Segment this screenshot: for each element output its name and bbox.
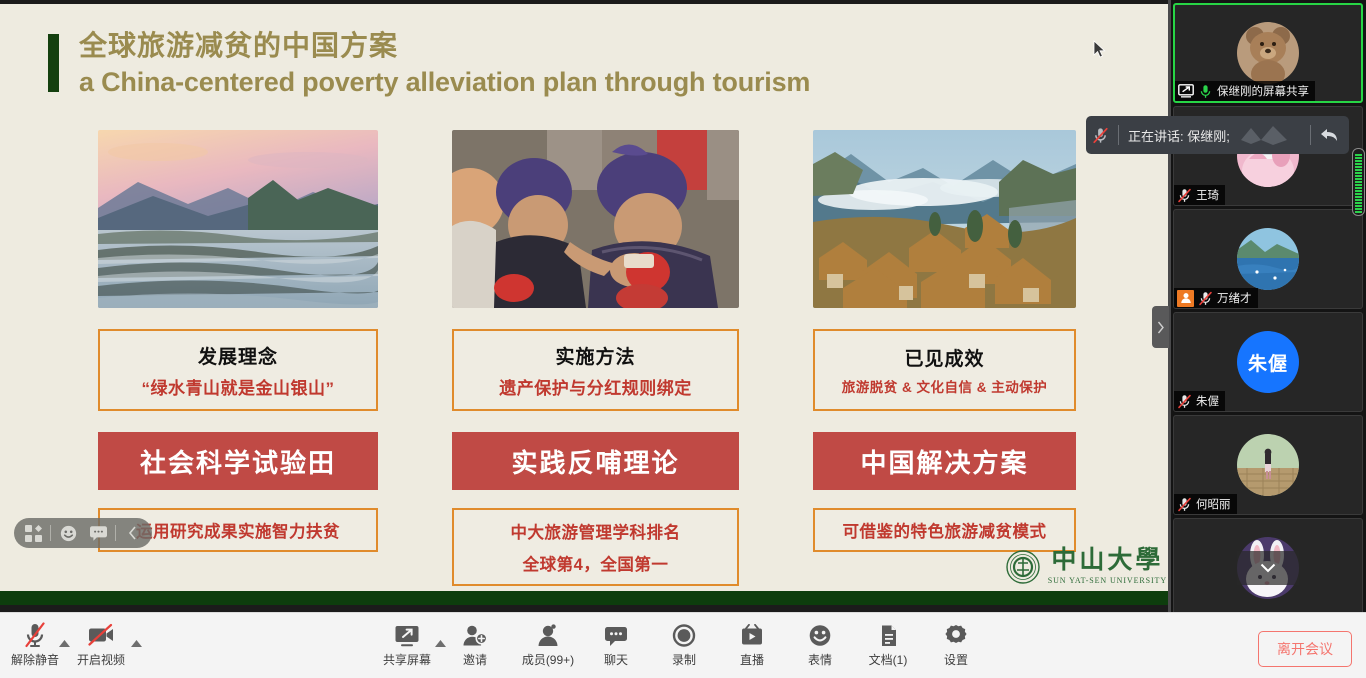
participant-label: 朱偓 bbox=[1174, 391, 1225, 411]
banner-card-3-label: 中国解决方案 bbox=[860, 443, 1028, 480]
teddy-bear-avatar bbox=[1237, 22, 1299, 84]
rice-terraces-sunset-photo bbox=[98, 130, 378, 308]
concept-card-2-subtitle: 遗产保护与分红规则绑定 bbox=[499, 374, 692, 399]
toolbar-label: 文档(1) bbox=[869, 651, 908, 668]
emoji-icon[interactable] bbox=[55, 520, 81, 546]
banner-card-1-label: 社会科学试验田 bbox=[140, 443, 336, 480]
collapse-left-chevron-icon[interactable] bbox=[120, 520, 146, 546]
slide-title-english: a China-centered poverty alleviation pla… bbox=[79, 65, 810, 100]
footer-card-2: 中大旅游管理学科排名 全球第4，全国第一 bbox=[452, 508, 739, 586]
banner-card-1: 社会科学试验田 bbox=[98, 432, 378, 490]
mic-on-icon bbox=[1198, 84, 1213, 99]
meeting-toolbar: 解除静音 开启视频 bbox=[0, 612, 1366, 678]
concept-card-3-subtitle: 旅游脱贫 & 文化自信 & 主动保护 bbox=[842, 376, 1048, 396]
mountain-village-cloud-sea-photo bbox=[813, 130, 1076, 308]
lake-scenery-avatar bbox=[1237, 228, 1299, 290]
banner-card-2-label: 实践反哺理论 bbox=[511, 443, 679, 480]
toolbar-label: 直播 bbox=[740, 651, 764, 668]
chevron-right-icon bbox=[1157, 321, 1165, 334]
document-icon bbox=[875, 622, 901, 648]
participant-name: 王琦 bbox=[1196, 187, 1219, 203]
footer-card-2-line-2: 全球第4，全国第一 bbox=[523, 551, 669, 575]
toolbar-label: 设置 bbox=[944, 651, 968, 668]
concept-card-3: 已见成效 旅游脱贫 & 文化自信 & 主动保护 bbox=[813, 329, 1076, 411]
participant-tile[interactable]: 朱偓 朱偓 bbox=[1173, 312, 1363, 412]
toolbar-item-record[interactable]: 录制 bbox=[649, 622, 719, 668]
mic-muted-icon bbox=[1198, 291, 1213, 306]
pill-divider-1 bbox=[50, 525, 51, 541]
live-stream-icon bbox=[739, 622, 765, 648]
toolbar-item-share-screen[interactable]: 共享屏幕 bbox=[372, 622, 442, 668]
university-name-english: SUN YAT-SEN UNIVERSITY bbox=[1048, 576, 1167, 585]
participant-tile[interactable] bbox=[1173, 518, 1363, 612]
participant-tile[interactable]: 保继刚的屏幕共享 bbox=[1173, 3, 1363, 103]
participant-name: 保继刚的屏幕共享 bbox=[1217, 83, 1309, 99]
mic-muted-icon bbox=[23, 622, 47, 648]
slide-column-2: 实施方法 遗产保护与分红规则绑定 实践反哺理论 中大旅游管理学科排名 全球第4，… bbox=[452, 130, 739, 586]
toolbar-label: 共享屏幕 bbox=[383, 651, 431, 668]
slide-title-chinese: 全球旅游减贫的中国方案 bbox=[79, 28, 810, 63]
participant-name: 何昭丽 bbox=[1196, 496, 1231, 512]
participant-label: 王琦 bbox=[1174, 185, 1225, 205]
participant-label: 保继刚的屏幕共享 bbox=[1175, 81, 1315, 101]
invite-person-icon bbox=[462, 622, 488, 648]
slide-columns: 发展理念 “绿水青山就是金山银山” 社会科学试验田 运用研究成果实施智力扶贫 bbox=[98, 130, 1078, 586]
leave-meeting-button[interactable]: 离开会议 bbox=[1258, 631, 1352, 667]
screen-share-area: 全球旅游减贫的中国方案 a China-centered poverty all… bbox=[0, 0, 1170, 612]
meeting-window: 全球旅游减贫的中国方案 a China-centered poverty all… bbox=[0, 0, 1366, 678]
person-on-wall-avatar bbox=[1237, 434, 1299, 496]
toast-divider-2 bbox=[1310, 125, 1311, 145]
toast-divider-1 bbox=[1118, 125, 1119, 145]
toolbar-label: 邀请 bbox=[463, 651, 487, 668]
toolbar-label: 开启视频 bbox=[77, 651, 125, 668]
title-accent-bar bbox=[48, 34, 59, 92]
mouse-cursor bbox=[1093, 40, 1106, 58]
toolbar-item-participants[interactable]: 成员(99+) bbox=[513, 622, 583, 668]
concept-card-3-title: 已见成效 bbox=[904, 344, 984, 371]
mic-muted-icon bbox=[1177, 394, 1192, 409]
concept-card-2-title: 实施方法 bbox=[555, 342, 635, 369]
pill-divider-2 bbox=[115, 525, 116, 541]
settings-gear-icon bbox=[943, 622, 969, 648]
university-name-chinese: 中山大學 bbox=[1051, 548, 1163, 573]
screen-share-icon bbox=[394, 622, 420, 648]
footer-card-3: 可借鉴的特色旅游减贫模式 bbox=[813, 508, 1076, 552]
footer-card-2-line-1: 中大旅游管理学科排名 bbox=[511, 519, 681, 543]
university-seal-icon bbox=[1006, 550, 1040, 584]
screen-share-icon bbox=[1178, 84, 1194, 98]
participants-icon bbox=[535, 622, 561, 648]
elderly-women-red-envelope-photo bbox=[452, 130, 739, 308]
concept-card-1-subtitle: “绿水青山就是金山银山” bbox=[142, 374, 335, 399]
toolbar-item-document[interactable]: 文档(1) bbox=[853, 622, 923, 668]
toolbar-item-settings[interactable]: 设置 bbox=[921, 622, 991, 668]
participant-tile[interactable]: 万绪才 bbox=[1173, 209, 1363, 309]
toolbar-item-video[interactable]: 开启视频 bbox=[66, 622, 136, 668]
toolbar-label: 聊天 bbox=[604, 651, 628, 668]
slide-bottom-bar bbox=[0, 591, 1170, 605]
apps-icon[interactable] bbox=[20, 520, 46, 546]
emoji-icon bbox=[807, 622, 833, 648]
video-off-icon bbox=[87, 622, 115, 648]
reply-arrow-icon[interactable] bbox=[1320, 127, 1339, 143]
participant-name: 万绪才 bbox=[1217, 290, 1252, 306]
host-badge-icon bbox=[1177, 290, 1194, 307]
speaking-text: 正在讲话: 保继刚; bbox=[1128, 126, 1230, 145]
toolbar-label: 录制 bbox=[672, 651, 696, 668]
toolbar-label: 成员(99+) bbox=[522, 651, 574, 668]
participant-label: 何昭丽 bbox=[1174, 494, 1237, 514]
participant-name: 朱偓 bbox=[1196, 393, 1219, 409]
mic-muted-icon bbox=[1177, 188, 1192, 203]
sidebar-collapse-handle[interactable] bbox=[1152, 306, 1169, 348]
record-icon bbox=[671, 622, 697, 648]
concept-card-1: 发展理念 “绿水青山就是金山银山” bbox=[98, 329, 378, 411]
floating-reaction-toolbar[interactable] bbox=[14, 518, 152, 548]
concept-card-2: 实施方法 遗产保护与分红规则绑定 bbox=[452, 329, 739, 411]
banner-card-3: 中国解决方案 bbox=[813, 432, 1076, 490]
mic-muted-icon bbox=[1092, 127, 1109, 144]
toolbar-item-live[interactable]: 直播 bbox=[717, 622, 787, 668]
presentation-slide: 全球旅游减贫的中国方案 a China-centered poverty all… bbox=[0, 4, 1170, 605]
speaking-indicator-toast: 正在讲话: 保继刚; bbox=[1086, 116, 1349, 154]
university-logo: 中山大學 SUN YAT-SEN UNIVERSITY bbox=[1006, 548, 1167, 585]
scroll-down-chevron-icon[interactable] bbox=[1237, 551, 1299, 585]
slide-title-block: 全球旅游减贫的中国方案 a China-centered poverty all… bbox=[48, 28, 810, 100]
initials-avatar: 朱偓 bbox=[1237, 331, 1299, 393]
banner-card-2: 实践反哺理论 bbox=[452, 432, 739, 490]
slide-column-3: 已见成效 旅游脱贫 & 文化自信 & 主动保护 中国解决方案 可借鉴的特色旅游减… bbox=[813, 130, 1076, 586]
chat-bubble-icon[interactable] bbox=[85, 520, 111, 546]
footer-card-1-line-1: 运用研究成果实施智力扶贫 bbox=[136, 518, 340, 542]
video-options-caret-icon[interactable] bbox=[130, 637, 142, 649]
participants-sidebar[interactable]: 保继刚的屏幕共享 bbox=[1170, 0, 1366, 612]
chat-icon bbox=[603, 622, 629, 648]
participant-label: 万绪才 bbox=[1174, 288, 1258, 308]
concept-card-1-title: 发展理念 bbox=[198, 342, 278, 369]
mic-muted-icon bbox=[1177, 497, 1192, 512]
toolbar-label: 解除静音 bbox=[11, 651, 59, 668]
toolbar-item-invite[interactable]: 邀请 bbox=[440, 622, 510, 668]
audio-level-meter bbox=[1352, 148, 1365, 216]
waveform-diamonds-icon bbox=[1239, 124, 1301, 146]
toolbar-label: 表情 bbox=[808, 651, 832, 668]
participant-tile[interactable]: 何昭丽 bbox=[1173, 415, 1363, 515]
toolbar-item-chat[interactable]: 聊天 bbox=[581, 622, 651, 668]
footer-card-3-line-1: 可借鉴的特色旅游减贫模式 bbox=[843, 518, 1047, 542]
toolbar-item-emoji[interactable]: 表情 bbox=[785, 622, 855, 668]
avatar-initials-text: 朱偓 bbox=[1237, 331, 1299, 393]
